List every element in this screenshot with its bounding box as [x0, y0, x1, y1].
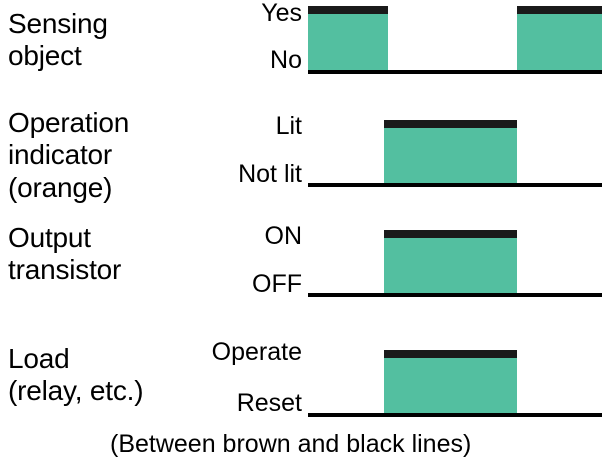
baseline-sensing-object — [308, 70, 602, 74]
axis-high-label-output-transistor: ON — [265, 223, 303, 251]
pulse-operation-indicator-1 — [384, 120, 517, 183]
axis-high-label-load: Operate — [212, 339, 302, 367]
axis-labels-operation-indicator: Lit Not lit — [150, 103, 302, 193]
axis-high-label-sensing-object: Yes — [261, 0, 302, 28]
baseline-output-transistor — [308, 293, 602, 297]
axis-labels-output-transistor: ON OFF — [160, 218, 302, 308]
row-label-sensing-object: Sensing object — [8, 8, 108, 73]
timing-row-load: Load (relay, etc.) Operate Reset — [0, 333, 602, 433]
row-label-load: Load (relay, etc.) — [8, 343, 143, 408]
baseline-operation-indicator — [308, 183, 602, 187]
timing-row-operation-indicator: Operation indicator (orange) Lit Not lit — [0, 103, 602, 198]
axis-labels-load: Operate Reset — [130, 333, 302, 428]
footnote-text: (Between brown and black lines) — [110, 430, 471, 459]
pulse-load-1 — [384, 350, 517, 413]
axis-low-label-operation-indicator: Not lit — [238, 161, 302, 189]
axis-high-label-operation-indicator: Lit — [276, 113, 302, 141]
timing-row-sensing-object: Sensing object Yes No — [0, 0, 602, 90]
row-label-operation-indicator: Operation indicator (orange) — [8, 107, 129, 204]
baseline-load — [308, 413, 602, 417]
axis-labels-sensing-object: Yes No — [170, 0, 302, 80]
pulse-sensing-object-1 — [308, 6, 388, 70]
pulse-output-transistor-1 — [384, 230, 517, 293]
pulse-sensing-object-2 — [517, 6, 602, 70]
row-label-output-transistor: Output transistor — [8, 222, 121, 287]
timing-row-output-transistor: Output transistor ON OFF — [0, 218, 602, 313]
axis-low-label-output-transistor: OFF — [252, 271, 302, 299]
timing-chart: Sensing object Yes No Operation indicato… — [0, 0, 602, 471]
axis-low-label-sensing-object: No — [270, 47, 302, 75]
axis-low-label-load: Reset — [237, 390, 302, 418]
